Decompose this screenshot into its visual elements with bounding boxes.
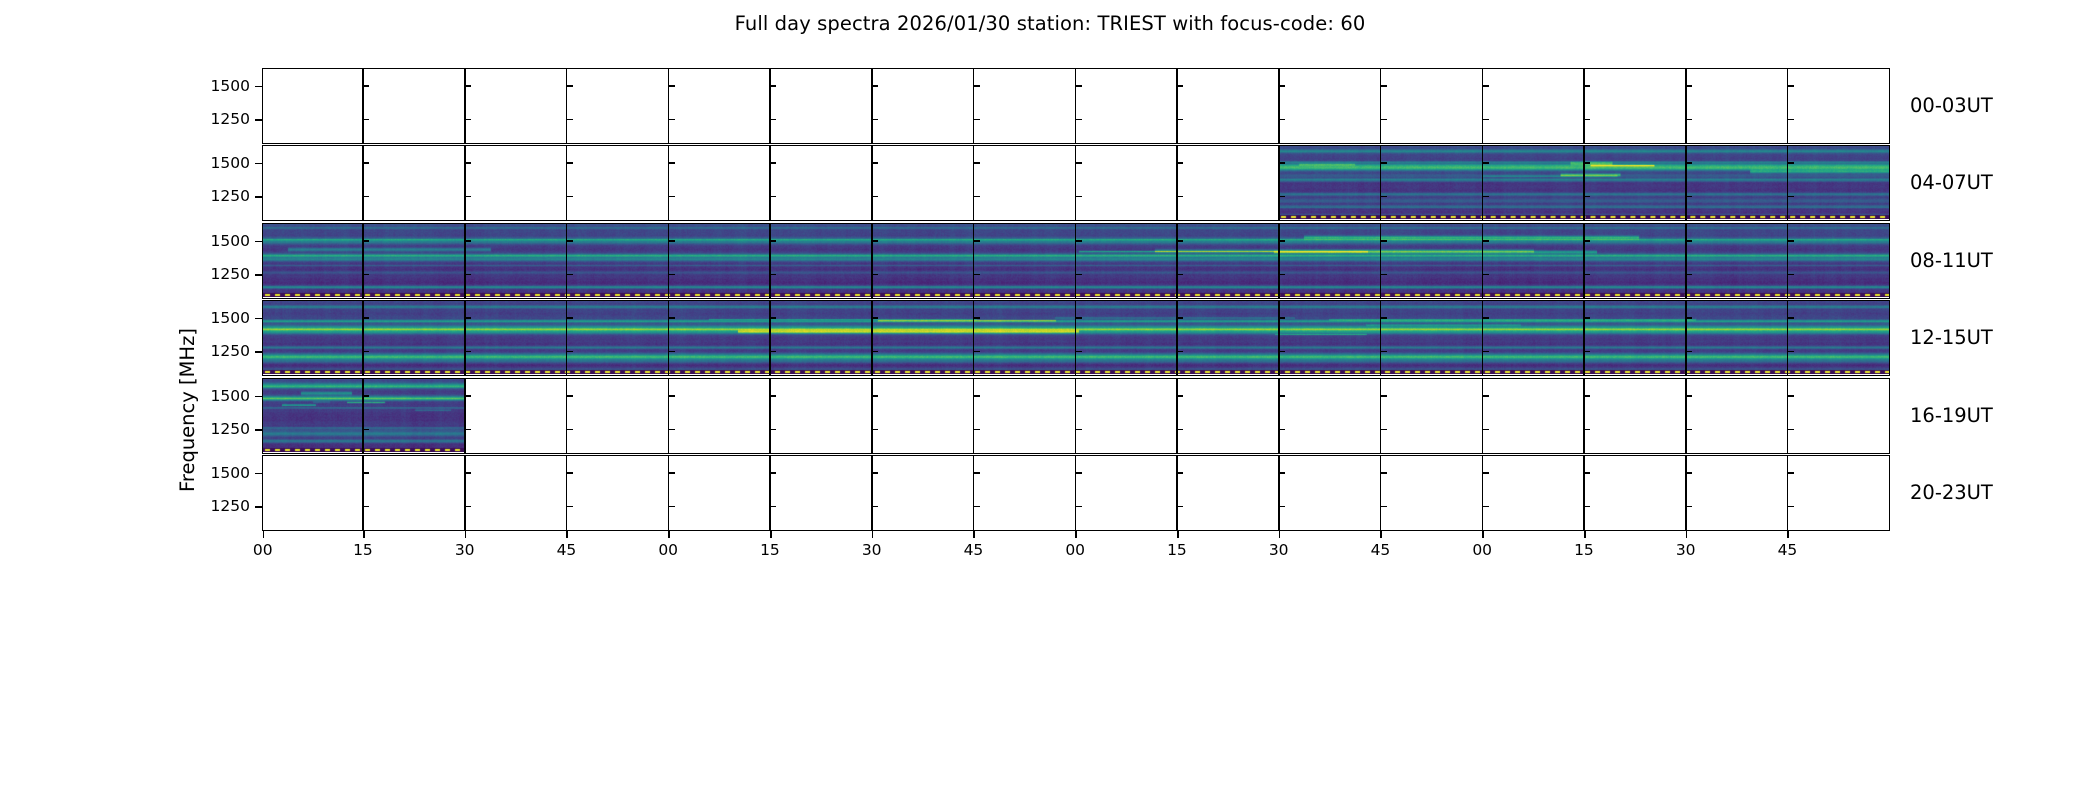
row-label-20-23ut: 20-23UT <box>1910 481 1993 504</box>
cell-y-tick <box>871 506 878 508</box>
cell-y-tick <box>973 119 980 121</box>
cell-y-tick <box>1583 506 1590 508</box>
x-axis-tick-label: 30 <box>425 541 505 559</box>
spectrogram-row <box>262 300 1890 376</box>
cell-divider <box>566 379 568 453</box>
x-axis-tick-label: 30 <box>832 541 912 559</box>
cell-y-tick <box>1583 429 1590 431</box>
cell-y-tick <box>464 196 471 198</box>
cell-y-tick <box>1176 119 1183 121</box>
cell-y-tick <box>871 196 878 198</box>
x-axis-tick <box>1584 531 1586 538</box>
cell-y-tick <box>769 85 776 87</box>
spectrogram-canvas <box>1279 146 1890 219</box>
cell-y-tick <box>566 429 573 431</box>
cell-divider <box>1075 146 1077 220</box>
y-axis-tick <box>255 274 262 276</box>
cell-y-tick <box>1583 85 1590 87</box>
cell-divider <box>362 69 364 143</box>
spectrogram-data-panel <box>263 301 1889 374</box>
cell-y-tick <box>1075 119 1082 121</box>
x-axis-tick <box>1686 531 1688 538</box>
cell-divider <box>566 69 568 143</box>
cell-y-tick <box>668 472 675 474</box>
y-axis-tick <box>255 351 262 353</box>
cell-y-tick <box>362 119 369 121</box>
cell-divider <box>1583 69 1585 143</box>
cell-y-tick <box>871 162 878 164</box>
cell-y-tick <box>566 119 573 121</box>
cell-divider <box>973 456 975 530</box>
cell-y-tick <box>1176 85 1183 87</box>
cell-divider <box>871 146 873 220</box>
x-axis-tick-label: 00 <box>1442 541 1522 559</box>
cell-y-tick <box>362 196 369 198</box>
y-axis-tick <box>255 429 262 431</box>
y-axis-tick <box>255 318 262 320</box>
cell-y-tick <box>362 162 369 164</box>
y-axis-tick <box>255 241 262 243</box>
cell-divider <box>973 69 975 143</box>
cell-divider <box>362 146 364 220</box>
x-axis-tick-label: 45 <box>1340 541 1420 559</box>
cell-y-tick <box>566 506 573 508</box>
y-axis-tick-label: 1250 <box>132 342 250 360</box>
x-axis-tick <box>1482 531 1484 538</box>
cell-y-tick <box>1075 85 1082 87</box>
cell-y-tick <box>362 506 369 508</box>
cell-y-tick <box>1482 429 1489 431</box>
cell-y-tick <box>1075 162 1082 164</box>
cell-y-tick <box>464 395 471 397</box>
cell-divider <box>1176 379 1178 453</box>
x-axis-tick-label: 45 <box>1747 541 1827 559</box>
x-axis-tick <box>668 531 670 538</box>
spectrogram-row <box>262 145 1890 221</box>
cell-y-tick <box>566 85 573 87</box>
x-axis-tick <box>363 531 365 538</box>
x-axis-tick-label: 15 <box>323 541 403 559</box>
cell-y-tick <box>1278 119 1285 121</box>
cell-divider <box>1685 379 1687 453</box>
cell-y-tick <box>769 472 776 474</box>
x-axis-tick <box>973 531 975 538</box>
cell-y-tick <box>566 162 573 164</box>
cell-y-tick <box>1482 85 1489 87</box>
spectrogram-row <box>262 378 1890 454</box>
y-axis-tick <box>255 396 262 398</box>
row-label-12-15ut: 12-15UT <box>1910 326 1993 349</box>
y-axis-tick <box>255 163 262 165</box>
cell-divider <box>668 146 670 220</box>
cell-y-tick <box>1075 429 1082 431</box>
cell-y-tick <box>871 472 878 474</box>
x-axis-tick-label: 00 <box>1035 541 1115 559</box>
cell-divider <box>1278 69 1280 143</box>
cell-y-tick <box>1787 119 1794 121</box>
y-axis-tick-label: 1500 <box>132 387 250 405</box>
row-label-08-11ut: 08-11UT <box>1910 249 1993 272</box>
cell-y-tick <box>1787 472 1794 474</box>
cell-y-tick <box>1787 429 1794 431</box>
cell-divider <box>668 379 670 453</box>
cell-y-tick <box>973 85 980 87</box>
cell-y-tick <box>668 119 675 121</box>
cell-y-tick <box>769 506 776 508</box>
cell-divider <box>1176 69 1178 143</box>
cell-divider <box>871 69 873 143</box>
cell-divider <box>1075 379 1077 453</box>
cell-y-tick <box>1787 395 1794 397</box>
cell-y-tick <box>1685 85 1692 87</box>
x-axis-tick-label: 30 <box>1239 541 1319 559</box>
cell-divider <box>769 379 771 453</box>
cell-y-tick <box>1482 472 1489 474</box>
cell-divider <box>362 456 364 530</box>
cell-divider <box>464 456 466 530</box>
cell-y-tick <box>973 162 980 164</box>
cell-y-tick <box>362 472 369 474</box>
spectrogram-row <box>262 68 1890 144</box>
y-axis-tick-label: 1250 <box>132 420 250 438</box>
cell-divider <box>1380 456 1382 530</box>
cell-y-tick <box>1787 506 1794 508</box>
cell-y-tick <box>1075 196 1082 198</box>
y-axis-tick-label: 1500 <box>132 232 250 250</box>
cell-divider <box>1380 379 1382 453</box>
x-axis-tick <box>1279 531 1281 538</box>
row-label-04-07ut: 04-07UT <box>1910 171 1993 194</box>
cell-y-tick <box>566 196 573 198</box>
cell-divider <box>1278 456 1280 530</box>
cell-y-tick <box>1482 395 1489 397</box>
cell-divider <box>1685 456 1687 530</box>
spectrogram-canvas <box>263 301 1889 374</box>
cell-y-tick <box>1685 429 1692 431</box>
x-axis-tick-label: 00 <box>628 541 708 559</box>
x-axis-tick <box>263 531 265 538</box>
cell-y-tick <box>668 85 675 87</box>
spectrogram-data-panel <box>1279 146 1890 219</box>
spectrogram-canvas <box>263 379 465 452</box>
cell-divider <box>668 456 670 530</box>
y-axis-tick <box>255 473 262 475</box>
cell-divider <box>1787 456 1789 530</box>
cell-y-tick <box>973 395 980 397</box>
cell-divider <box>668 69 670 143</box>
cell-y-tick <box>1380 429 1387 431</box>
cell-y-tick <box>464 119 471 121</box>
cell-y-tick <box>1278 395 1285 397</box>
cell-y-tick <box>769 395 776 397</box>
cell-y-tick <box>668 429 675 431</box>
cell-y-tick <box>973 506 980 508</box>
cell-divider <box>1583 456 1585 530</box>
cell-y-tick <box>1176 506 1183 508</box>
x-axis-tick <box>465 531 467 538</box>
x-axis-tick <box>770 531 772 538</box>
cell-y-tick <box>769 162 776 164</box>
cell-y-tick <box>973 472 980 474</box>
y-axis-tick-label: 1500 <box>132 464 250 482</box>
cell-y-tick <box>566 395 573 397</box>
cell-y-tick <box>1176 395 1183 397</box>
cell-y-tick <box>1176 196 1183 198</box>
y-axis-tick-label: 1250 <box>132 497 250 515</box>
cell-y-tick <box>871 85 878 87</box>
x-axis-tick <box>872 531 874 538</box>
cell-divider <box>769 456 771 530</box>
y-axis-tick-label: 1250 <box>132 110 250 128</box>
cell-y-tick <box>1685 472 1692 474</box>
cell-divider <box>769 69 771 143</box>
cell-y-tick <box>1787 85 1794 87</box>
cell-y-tick <box>668 395 675 397</box>
cell-divider <box>464 146 466 220</box>
cell-y-tick <box>1380 395 1387 397</box>
page-title: Full day spectra 2026/01/30 station: TRI… <box>0 12 2100 35</box>
cell-y-tick <box>362 85 369 87</box>
cell-y-tick <box>973 196 980 198</box>
y-axis-tick-label: 1250 <box>132 187 250 205</box>
cell-y-tick <box>1482 506 1489 508</box>
cell-divider <box>1482 379 1484 453</box>
cell-y-tick <box>1380 472 1387 474</box>
cell-divider <box>973 146 975 220</box>
x-axis-tick-label: 15 <box>730 541 810 559</box>
cell-divider <box>1583 379 1585 453</box>
x-axis-tick <box>1380 531 1382 538</box>
cell-divider <box>1075 456 1077 530</box>
y-axis-tick-label: 1500 <box>132 77 250 95</box>
cell-divider <box>1278 379 1280 453</box>
cell-y-tick <box>973 429 980 431</box>
cell-y-tick <box>1380 506 1387 508</box>
cell-divider <box>1787 69 1789 143</box>
cell-y-tick <box>1176 162 1183 164</box>
cell-y-tick <box>1278 85 1285 87</box>
y-axis-tick <box>255 119 262 121</box>
cell-y-tick <box>464 429 471 431</box>
cell-y-tick <box>566 472 573 474</box>
cell-y-tick <box>769 119 776 121</box>
cell-y-tick <box>871 395 878 397</box>
cell-y-tick <box>871 119 878 121</box>
cell-y-tick <box>1176 429 1183 431</box>
cell-y-tick <box>464 472 471 474</box>
cell-divider <box>871 456 873 530</box>
row-label-00-03ut: 00-03UT <box>1910 94 1993 117</box>
cell-divider <box>1380 69 1382 143</box>
cell-divider <box>1075 69 1077 143</box>
x-axis-tick-label: 45 <box>933 541 1013 559</box>
cell-y-tick <box>464 162 471 164</box>
cell-divider <box>973 379 975 453</box>
cell-y-tick <box>769 196 776 198</box>
cell-divider <box>1176 456 1178 530</box>
cell-divider <box>1482 456 1484 530</box>
cell-divider <box>1787 379 1789 453</box>
y-axis-tick-label: 1250 <box>132 265 250 283</box>
cell-y-tick <box>1482 119 1489 121</box>
x-axis-tick-label: 45 <box>526 541 606 559</box>
cell-y-tick <box>1583 119 1590 121</box>
cell-y-tick <box>464 506 471 508</box>
cell-y-tick <box>1685 119 1692 121</box>
y-axis-tick <box>255 506 262 508</box>
cell-y-tick <box>769 429 776 431</box>
cell-y-tick <box>1685 395 1692 397</box>
cell-y-tick <box>1075 506 1082 508</box>
spectrogram-data-panel <box>263 224 1889 297</box>
x-axis-tick-label: 15 <box>1137 541 1217 559</box>
spectrogram-figure: Full day spectra 2026/01/30 station: TRI… <box>0 0 2100 800</box>
y-axis-tick <box>255 86 262 88</box>
y-axis-tick-label: 1500 <box>132 154 250 172</box>
cell-y-tick <box>668 162 675 164</box>
cell-y-tick <box>1176 472 1183 474</box>
cell-y-tick <box>1583 395 1590 397</box>
cell-y-tick <box>1380 85 1387 87</box>
cell-divider <box>1176 146 1178 220</box>
cell-divider <box>1685 69 1687 143</box>
cell-y-tick <box>1075 472 1082 474</box>
cell-y-tick <box>871 429 878 431</box>
cell-y-tick <box>1583 472 1590 474</box>
x-axis-tick-label: 30 <box>1646 541 1726 559</box>
cell-divider <box>566 456 568 530</box>
spectrogram-row <box>262 455 1890 531</box>
cell-y-tick <box>1075 395 1082 397</box>
x-axis-tick-label: 15 <box>1544 541 1624 559</box>
y-axis-tick <box>255 196 262 198</box>
cell-divider <box>566 146 568 220</box>
cell-y-tick <box>1278 429 1285 431</box>
cell-divider <box>464 69 466 143</box>
x-axis-tick <box>566 531 568 538</box>
cell-y-tick <box>668 196 675 198</box>
cell-y-tick <box>464 85 471 87</box>
cell-divider <box>1482 69 1484 143</box>
x-axis-tick <box>1787 531 1789 538</box>
y-axis-tick-label: 1500 <box>132 309 250 327</box>
x-axis-tick <box>1075 531 1077 538</box>
cell-y-tick <box>668 506 675 508</box>
cell-y-tick <box>1278 472 1285 474</box>
cell-y-tick <box>1380 119 1387 121</box>
row-label-16-19ut: 16-19UT <box>1910 404 1993 427</box>
cell-divider <box>871 379 873 453</box>
spectrogram-canvas <box>263 224 1889 297</box>
spectrogram-data-panel <box>263 379 465 452</box>
cell-y-tick <box>1685 506 1692 508</box>
spectrogram-row <box>262 223 1890 299</box>
x-axis-tick <box>1177 531 1179 538</box>
cell-y-tick <box>1278 506 1285 508</box>
x-axis-tick-label: 00 <box>223 541 303 559</box>
cell-divider <box>769 146 771 220</box>
